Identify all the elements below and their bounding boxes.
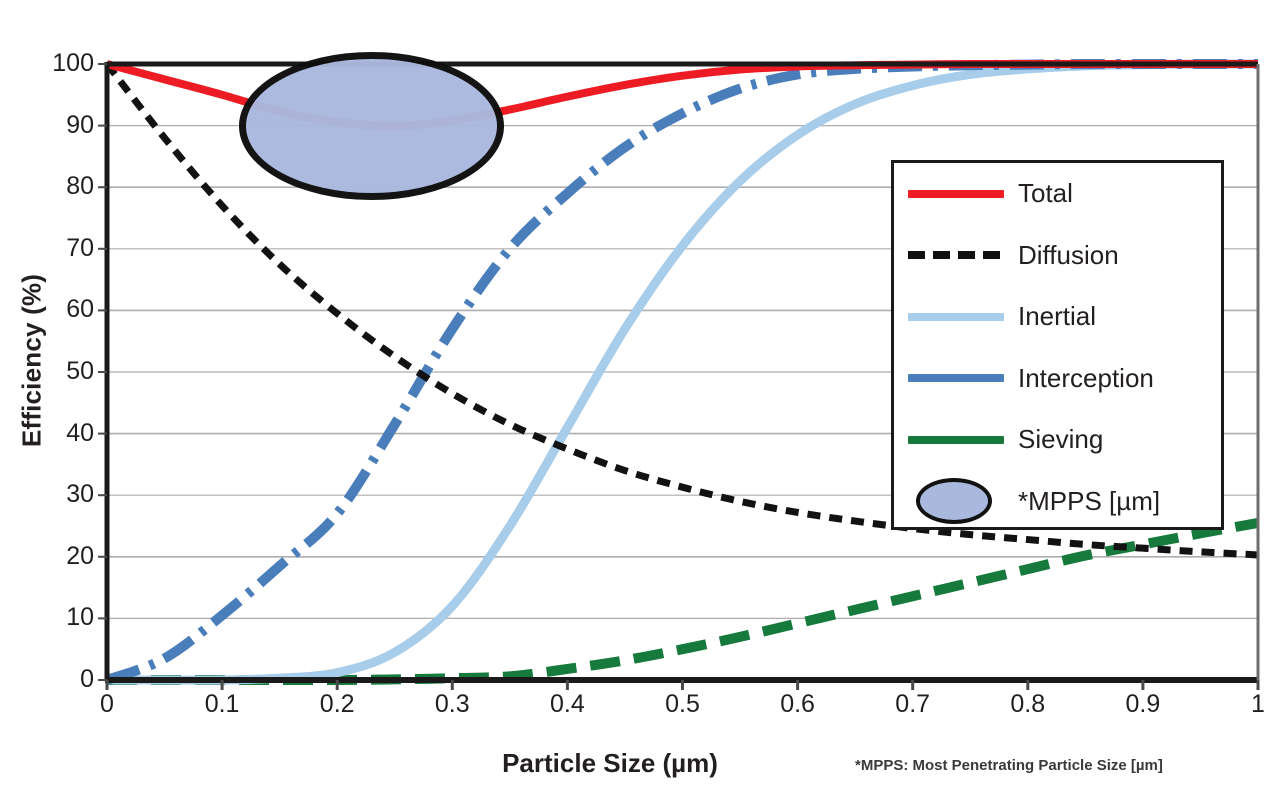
legend-item-label: Diffusion [1018,240,1119,271]
legend-item-label: Inertial [1018,301,1096,332]
legend-item-label: Total [1018,178,1073,209]
legend-item-mppsm[interactable]: *MPPS [µm] [894,471,1221,533]
legend-item-diffusion[interactable]: Diffusion [894,225,1221,287]
legend-item-sieving[interactable]: Sieving [894,409,1221,471]
mpps-annotation-ellipse [239,52,504,200]
legend-item-label: Sieving [1018,424,1103,455]
solid-line-icon [908,313,1004,321]
mpps-ellipse-icon [916,478,992,524]
solid-line-icon [908,436,1004,444]
solid-line-icon [908,374,1004,382]
legend-item-total[interactable]: Total [894,163,1221,225]
legend-swatch-dashed-icon [908,240,1004,270]
legend-swatch-solid-icon [908,425,1004,455]
legend-item-label: Interception [1018,363,1154,394]
chart-figure: Efficiency (%) 1009080706050403020100 00… [0,0,1280,802]
dashed-line-icon [908,251,1004,259]
chart-legend: TotalDiffusionInertialInterceptionSievin… [891,160,1224,530]
series-line-sieving [107,523,1258,680]
legend-item-label: *MPPS [µm] [1018,486,1160,517]
legend-item-interception[interactable]: Interception [894,348,1221,410]
legend-swatch-solid-icon [908,363,1004,393]
solid-line-icon [908,190,1004,198]
legend-swatch-solid-icon [908,302,1004,332]
legend-item-inertial[interactable]: Inertial [894,286,1221,348]
legend-swatch-solid-icon [908,179,1004,209]
legend-swatch-ellipse-icon [908,486,1004,516]
